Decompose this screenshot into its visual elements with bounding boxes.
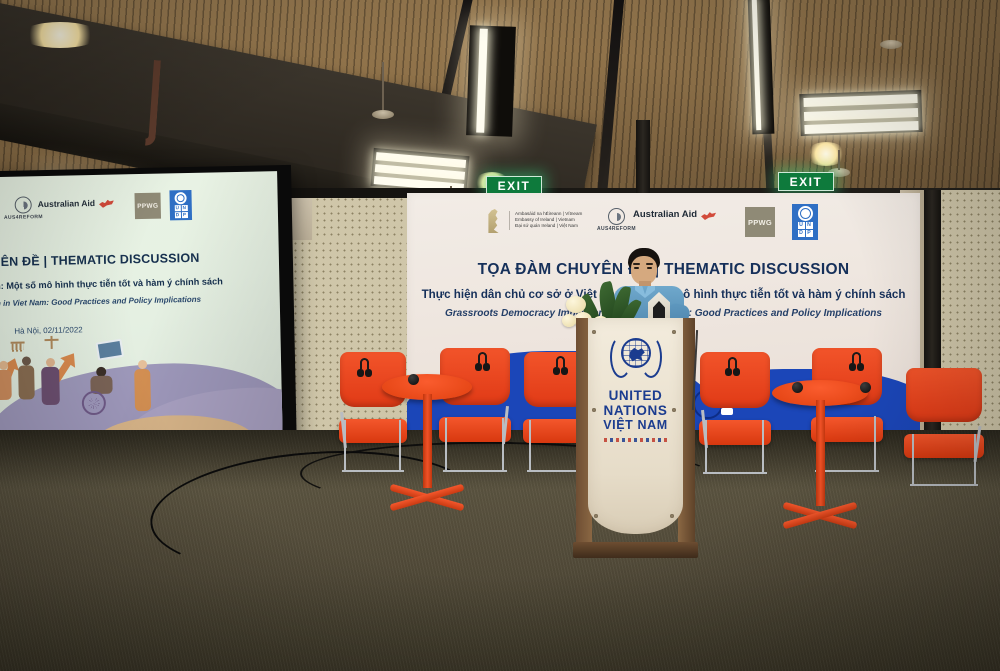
undp-letter-u: U xyxy=(798,222,805,229)
headphone-band xyxy=(728,357,737,368)
slide-title: ÀM CHUYÊN ĐỀ | THEMATIC DISCUSSION xyxy=(0,250,221,270)
chair-seat xyxy=(699,420,772,444)
ceiling-light-4 xyxy=(799,90,922,136)
downlight-3 xyxy=(806,142,846,166)
figure-head xyxy=(0,361,8,370)
undp-emblem-icon xyxy=(798,206,813,221)
podium-dash-motif xyxy=(604,438,668,442)
backdrop-logo-row: Ambasáid na hÉireann | Vítneam Embassy o… xyxy=(407,205,920,241)
chair-leg-right xyxy=(874,416,876,472)
sprinkler-stem-3 xyxy=(838,150,840,170)
slide-logo-row: AUS4REFORM Australian Aid PPWG U N D P xyxy=(0,187,278,231)
table-microphone-right-2 xyxy=(860,382,871,393)
undp-letter-n: N xyxy=(181,205,187,211)
chair-backrest xyxy=(906,368,982,422)
podium-rivet-6 xyxy=(670,514,674,518)
table-stem xyxy=(816,400,825,506)
chair-4 xyxy=(700,352,770,474)
slide-subtitle-vi: ở ở Việt Nam: Một số mô hình thực tiễn t… xyxy=(0,276,243,292)
aus4reform-label: AUS4REFORM xyxy=(597,226,636,232)
headphone-earcup-left xyxy=(849,363,856,371)
flower-bloom-1 xyxy=(566,296,586,313)
embassy-of-ireland-label: Ambasáid na hÉireann | Vítneam Embassy o… xyxy=(509,211,582,230)
undp-letter-p: P xyxy=(181,212,187,218)
headphone-4 xyxy=(726,357,739,376)
headphone-2 xyxy=(476,352,489,371)
headphone-earcup-left xyxy=(725,368,732,376)
figure-head xyxy=(22,356,31,365)
podium-rivet-2 xyxy=(672,330,676,334)
undp-letter-d: D xyxy=(798,230,805,237)
undp-letter-row-1: U N xyxy=(798,222,813,229)
projection-screen: AUS4REFORM Australian Aid PPWG U N D P xyxy=(0,165,297,461)
headphone-earcup-right xyxy=(857,363,864,371)
flower-bloom-4 xyxy=(562,314,576,327)
podium-line-vietnam: VIỆT NAM xyxy=(576,418,695,433)
table-base xyxy=(387,488,467,506)
table-right xyxy=(772,380,868,524)
ceiling-column-center xyxy=(636,120,650,198)
illustration-scales-icon xyxy=(44,336,58,349)
headphone-1 xyxy=(358,358,371,377)
slide-australian-aid-logo: Australian Aid xyxy=(38,199,114,210)
slide-undp-logo: U N D P xyxy=(169,190,192,220)
undp-letter-n: N xyxy=(806,222,813,229)
aus4reform-icon xyxy=(15,196,32,213)
chair-leg-bar xyxy=(910,484,978,486)
undp-letter-row-2: D P xyxy=(798,230,813,237)
backdrop-undp-logo: U N D P xyxy=(792,204,818,240)
sprinkler-1 xyxy=(372,110,394,119)
un-globe xyxy=(621,338,651,368)
backdrop-australian-aid-logo: Australian Aid xyxy=(633,211,716,220)
kangaroo-icon xyxy=(99,199,114,208)
headphone-earcup-right xyxy=(733,368,740,376)
table-stem xyxy=(423,394,432,488)
headphone-earcup-right xyxy=(483,363,490,371)
podium-line-nations: NATIONS xyxy=(576,403,695,418)
headphone-band xyxy=(478,352,487,363)
headphone-band xyxy=(360,358,369,369)
projected-slide: AUS4REFORM Australian Aid PPWG U N D P xyxy=(0,171,283,445)
undp-letter-u: U xyxy=(174,205,180,211)
backdrop-ppwg-logo: PPWG xyxy=(745,207,775,237)
chair-leg-bar xyxy=(703,472,767,474)
undp-letter-d: D xyxy=(174,212,180,218)
podium-base xyxy=(573,542,698,558)
figure-body xyxy=(41,367,60,405)
chair-leg-left xyxy=(529,420,531,472)
illustration-bank-icon xyxy=(11,338,25,351)
podium-text: UNITED NATIONS VIỆT NAM xyxy=(576,388,695,433)
downlight-1 xyxy=(20,22,100,48)
slide-illustration xyxy=(0,329,283,445)
speaker-brow-right xyxy=(646,263,653,265)
kangaroo-icon xyxy=(701,211,716,220)
figure-body xyxy=(18,365,35,399)
ceiling-light-3 xyxy=(466,25,516,137)
podium: UNITED NATIONS VIỆT NAM xyxy=(576,318,695,558)
slide-ppwg-logo: PPWG xyxy=(134,193,161,220)
ceiling-light-5 xyxy=(748,0,775,134)
chair-seat xyxy=(904,434,983,458)
undp-emblem-icon xyxy=(174,192,186,204)
headphone-earcup-left xyxy=(553,367,560,375)
podium-line-united: UNITED xyxy=(576,388,695,403)
chair-leg-right xyxy=(762,420,764,474)
ireland-harp-icon xyxy=(485,209,502,233)
chair-6 xyxy=(906,368,982,486)
sprinkler-stem-1 xyxy=(382,62,384,110)
backdrop-aus4reform-logo: AUS4REFORM xyxy=(597,208,636,232)
embassy-line-3: Đại sứ quán Ireland | Việt Nam xyxy=(515,223,582,229)
headphone-5 xyxy=(850,352,863,371)
exit-sign-right: EXIT xyxy=(778,172,834,191)
undp-letter-row-1: U N xyxy=(174,205,187,211)
un-emblem-icon xyxy=(609,334,663,384)
undp-letter-row-2: D P xyxy=(174,212,187,218)
australian-aid-label: Australian Aid xyxy=(633,211,697,220)
table-base xyxy=(780,506,860,524)
headphone-earcup-right xyxy=(561,367,568,375)
figure-body xyxy=(0,370,12,400)
undp-letter-p: P xyxy=(806,230,813,237)
conference-hall-photo: EXIT EXIT AUS4REFORM Australian Aid PPWG… xyxy=(0,0,1000,671)
sprinkler-4 xyxy=(880,40,902,49)
podium-rivet-1 xyxy=(592,330,596,334)
table-left xyxy=(382,374,472,506)
headphone-earcup-left xyxy=(475,363,482,371)
headphone-band xyxy=(556,356,565,367)
headphone-earcup-left xyxy=(357,369,364,377)
aus4reform-label: AUS4REFORM xyxy=(4,214,43,221)
podium-rivet-5 xyxy=(594,514,598,518)
headphone-earcup-right xyxy=(365,369,372,377)
table-microphone-left xyxy=(408,374,419,385)
illustration-laptop-icon xyxy=(95,339,124,361)
aus4reform-icon xyxy=(608,208,625,225)
speaker-brow-left xyxy=(633,263,640,265)
headphone-band xyxy=(852,352,861,363)
headphone-3 xyxy=(554,356,567,375)
figure-body xyxy=(134,369,151,411)
slide-subtitle-en: Implementation in Viet Nam: Good Practic… xyxy=(0,294,242,309)
figure-head xyxy=(46,358,55,367)
table-microphone-right xyxy=(792,382,803,393)
chair-leg-left xyxy=(912,434,914,486)
australian-aid-label: Australian Aid xyxy=(38,199,95,209)
